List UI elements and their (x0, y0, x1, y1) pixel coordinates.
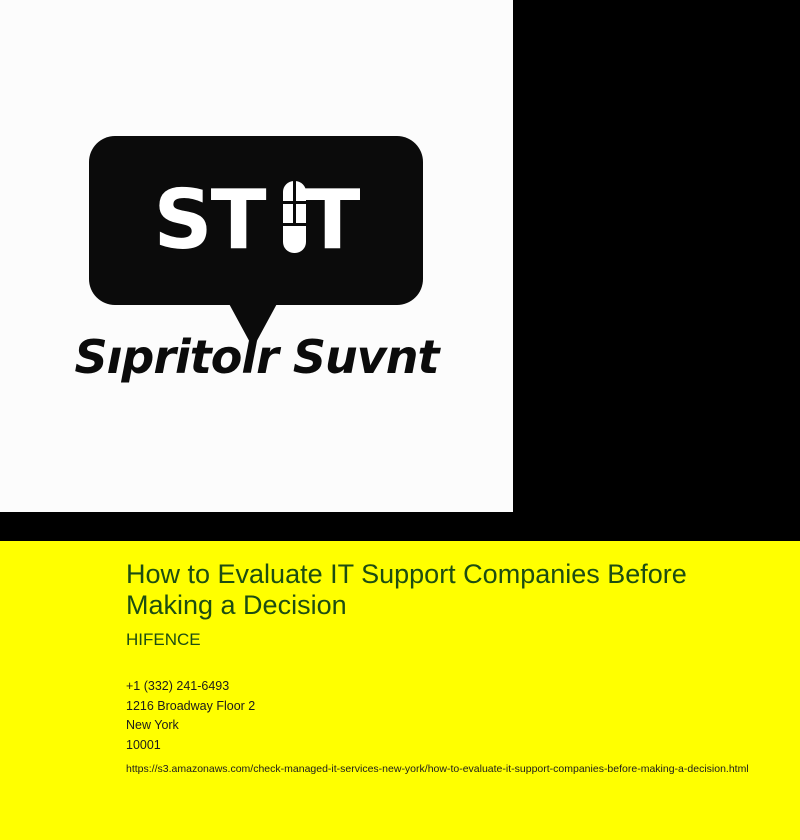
logo-wordmark-left: ST (154, 180, 265, 262)
mouse-divider-lower (283, 223, 306, 226)
contact-city: New York (126, 716, 255, 736)
contact-phone: +1 (332) 241-6493 (126, 677, 255, 697)
logo-image-tile: ST T Sıpritolr Suvnt (0, 0, 513, 512)
source-url-link[interactable]: https://s3.amazonaws.com/check-managed-i… (126, 762, 749, 776)
page-title: How to Evaluate IT Support Companies Bef… (126, 559, 706, 621)
brand-logo: ST T Sıpritolr Suvnt (0, 0, 513, 512)
contact-postal-code: 10001 (126, 736, 255, 756)
logo-wordmark: ST T (89, 136, 423, 305)
brand-label: HIFENCE (126, 630, 201, 650)
contact-block: +1 (332) 241-6493 1216 Broadway Floor 2 … (126, 677, 255, 755)
contact-street: 1216 Broadway Floor 2 (126, 697, 255, 717)
mouse-divider-upper (283, 201, 306, 204)
computer-mouse-icon (283, 181, 306, 253)
logo-wordmark-right: T (305, 180, 359, 262)
media-region: ST T Sıpritolr Suvnt (0, 0, 800, 541)
article-info-panel: How to Evaluate IT Support Companies Bef… (0, 541, 800, 840)
logo-tagline: Sıpritolr Suvnt (0, 330, 513, 384)
